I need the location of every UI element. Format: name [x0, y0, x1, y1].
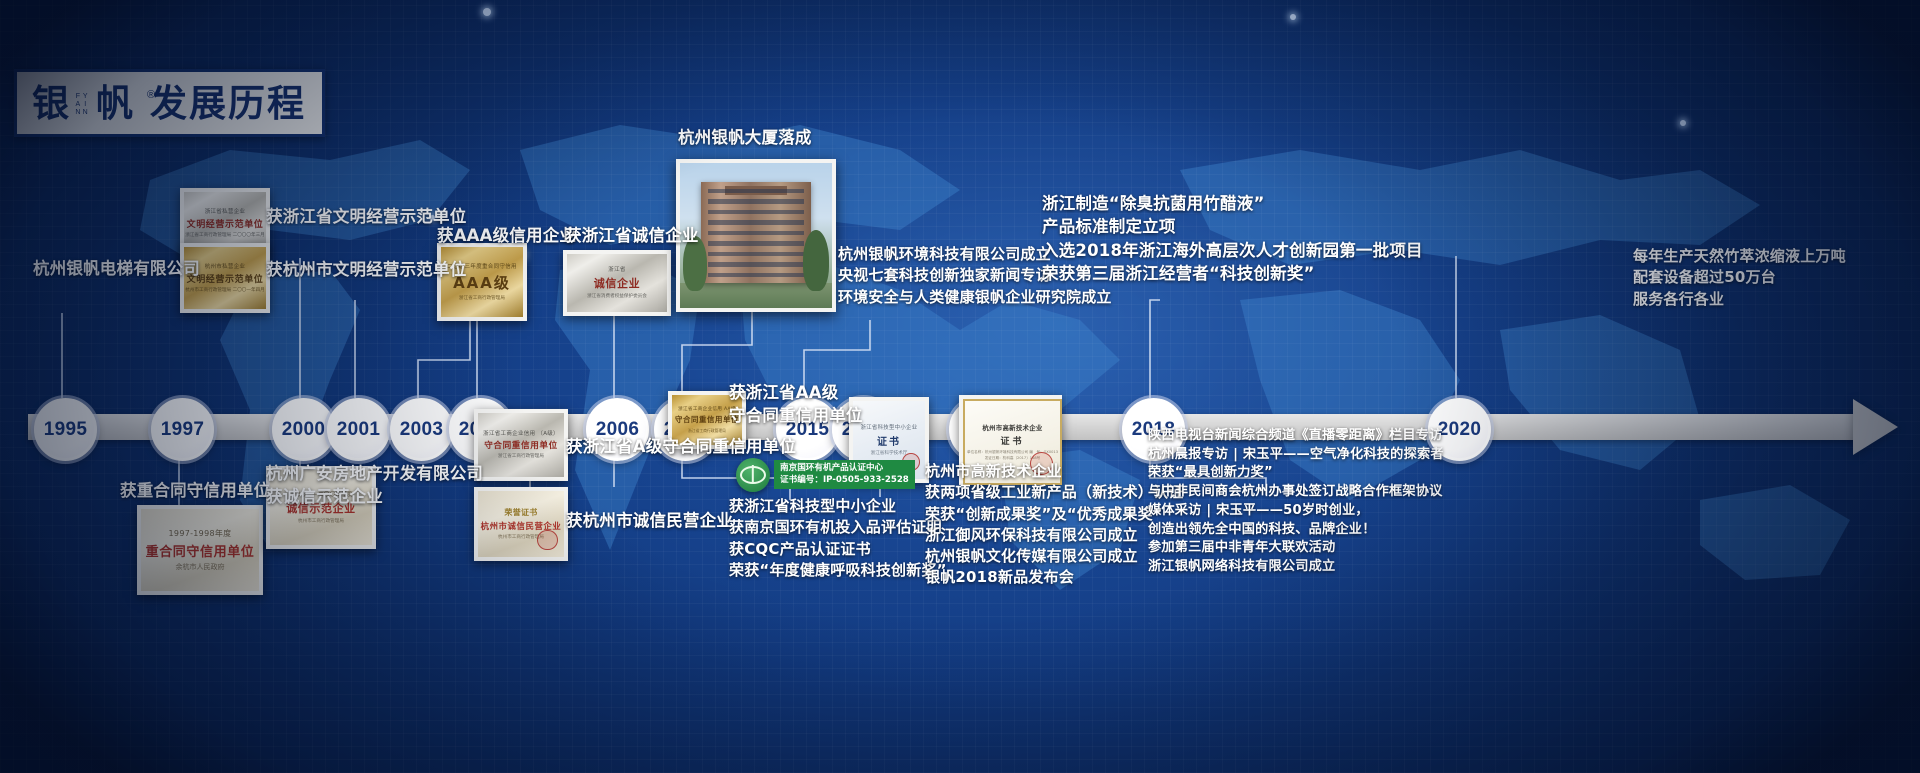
- event-label-2005-below: 获浙江省A级守合同重信用单位: [566, 435, 796, 458]
- brand-logo-char-yin: 银: [32, 85, 70, 122]
- cert-bottom-text: 浙江省工商行政管理局: [688, 428, 726, 433]
- year-marker-2001[interactable]: 2001: [327, 398, 390, 461]
- organic-certification-caption: 南京国环有机产品认证中心 证书编号：IP-0505-933-2528: [774, 460, 915, 489]
- cert-top-text: 浙江省科技型中小企业: [861, 423, 918, 431]
- cert-main-text: 文明经营示范单位: [187, 217, 264, 230]
- event-label-2000-below: 杭州广安房地产开发有限公司 获诚信示范企业: [266, 462, 483, 509]
- cert-heavy-contract-credit[interactable]: 1997-1998年度 重合同守信用单位 余杭市人民政府: [137, 505, 263, 595]
- event-label-2020-above: 每年生产天然竹萃浓缩液上万吨 配套设备超过50万台 服务各行各业: [1633, 246, 1893, 310]
- cert-main-text: 守合同重信用单位: [484, 439, 558, 451]
- event-label-2018-below: 陕西电视台新闻综合频道《直播零距离》栏目专访 杭州晨报专访 | 宋玉平——空气净…: [1148, 427, 1444, 577]
- cert-bottom-text: 余杭市人民政府: [176, 563, 225, 573]
- event-label-2018-above: 浙江制造“除臭抗菌用竹醋液” 产品标准制定立项 入选2018年浙江海外高层次人才…: [1042, 192, 1423, 286]
- page-title-banner: 银 YIN FAN 帆 ® 发展历程: [14, 69, 325, 137]
- event-label-2006-below: 获杭州市诚信民营企业: [566, 509, 733, 532]
- cert-zhejiang-a-grade-credit[interactable]: 浙江省工商企业信用 （A级） 守合同重信用单位 浙江省工商行政管理局: [474, 409, 568, 481]
- cert-main-text: 证书: [877, 433, 901, 448]
- cert-bottom-text: 杭州市工商行政管理局 二〇〇一年四月: [185, 288, 265, 294]
- timeline-arrow-icon: [1853, 399, 1898, 455]
- cert-bottom-text: 浙江省消费者权益保护委员会: [587, 294, 647, 300]
- year-marker-2000[interactable]: 2000: [272, 398, 335, 461]
- sparkle-dot: [483, 8, 491, 16]
- cert-main-text: 重合同守信用单位: [146, 541, 255, 560]
- event-label-1995: 杭州银帆电梯有限公司: [33, 257, 223, 280]
- event-label-2003-above: 获AAA级信用企业: [437, 224, 576, 247]
- cert-bottom-text: 浙江省工商行政管理局 二〇〇〇年三月: [185, 233, 265, 239]
- year-marker-1995[interactable]: 1995: [34, 398, 97, 461]
- cert-top-text: 1997-1998年度: [169, 528, 232, 539]
- event-label-1997-below: 获重合同守信用单位: [120, 479, 270, 502]
- cert-top-text: 杭州市高新技术企业: [982, 423, 1042, 432]
- year-marker-1997[interactable]: 1997: [151, 398, 214, 461]
- event-label-2017-below: 杭州市高新技术企业 获两项省级工业新产品（新技术）认证 荣获“创新成果奖”及“优…: [925, 461, 1183, 589]
- cert-aaa-credit-enterprise[interactable]: 二〇〇三年度重合同守信用 AAA级 浙江省工商行政管理局: [437, 243, 527, 321]
- cert-main-text: 诚信企业: [594, 275, 640, 291]
- cert-bottom-text: 杭州市工商行政管理局: [298, 519, 344, 525]
- cert-bottom-text: 浙江省科学技术厅: [871, 451, 908, 457]
- brand-logo-pinyin: YIN FAN: [74, 93, 89, 122]
- event-label-2009-below: 获浙江省AA级 守合同重信用单位: [729, 381, 863, 428]
- registered-trademark-icon: ®: [147, 89, 155, 101]
- cert-top-text: 浙江省工商企业信用 （A级）: [483, 429, 559, 437]
- cert-hangzhou-honor[interactable]: 荣誉证书 杭州市诚信民营企业 杭州市工商行政管理局: [474, 487, 568, 561]
- event-label-2001-above: 获杭州市文明经营示范单位: [266, 258, 466, 281]
- page-title: 发展历程: [150, 85, 306, 122]
- organic-certification-icon: [736, 458, 770, 492]
- cert-bottom-text: 浙江省工商行政管理局: [459, 296, 505, 302]
- brand-logo-char-fan: 帆: [96, 85, 134, 122]
- yinfan-building-photo[interactable]: [676, 159, 836, 312]
- event-label-2016-below: 获浙江省科技型中小企业 获南京国环有机投入品评估证明 获CQC产品认证证书 荣获…: [729, 496, 947, 581]
- cert-zhejiang-integrity-enterprise[interactable]: 浙江省 诚信企业 浙江省消费者权益保护委员会: [563, 250, 671, 316]
- event-label-2005-above: 获浙江省诚信企业: [565, 224, 699, 247]
- sparkle-dot: [1680, 120, 1686, 126]
- timeline-infographic: 银 YIN FAN 帆 ® 发展历程: [0, 0, 1920, 773]
- cert-top-text: 浙江省工商企业信用 AA级: [678, 406, 736, 412]
- cert-top-text: 浙江省私营企业: [205, 207, 246, 215]
- cert-bottom-text: 浙江省工商行政管理局: [498, 454, 544, 460]
- cert-main-text: 证书: [1000, 434, 1024, 447]
- event-label-2009-above: 杭州银帆大厦落成: [678, 126, 812, 149]
- cert-top-text: 荣誉证书: [504, 507, 537, 518]
- year-marker-2003[interactable]: 2003: [390, 398, 453, 461]
- cert-top-text: 浙江省: [608, 265, 625, 273]
- sparkle-dot: [1290, 14, 1296, 20]
